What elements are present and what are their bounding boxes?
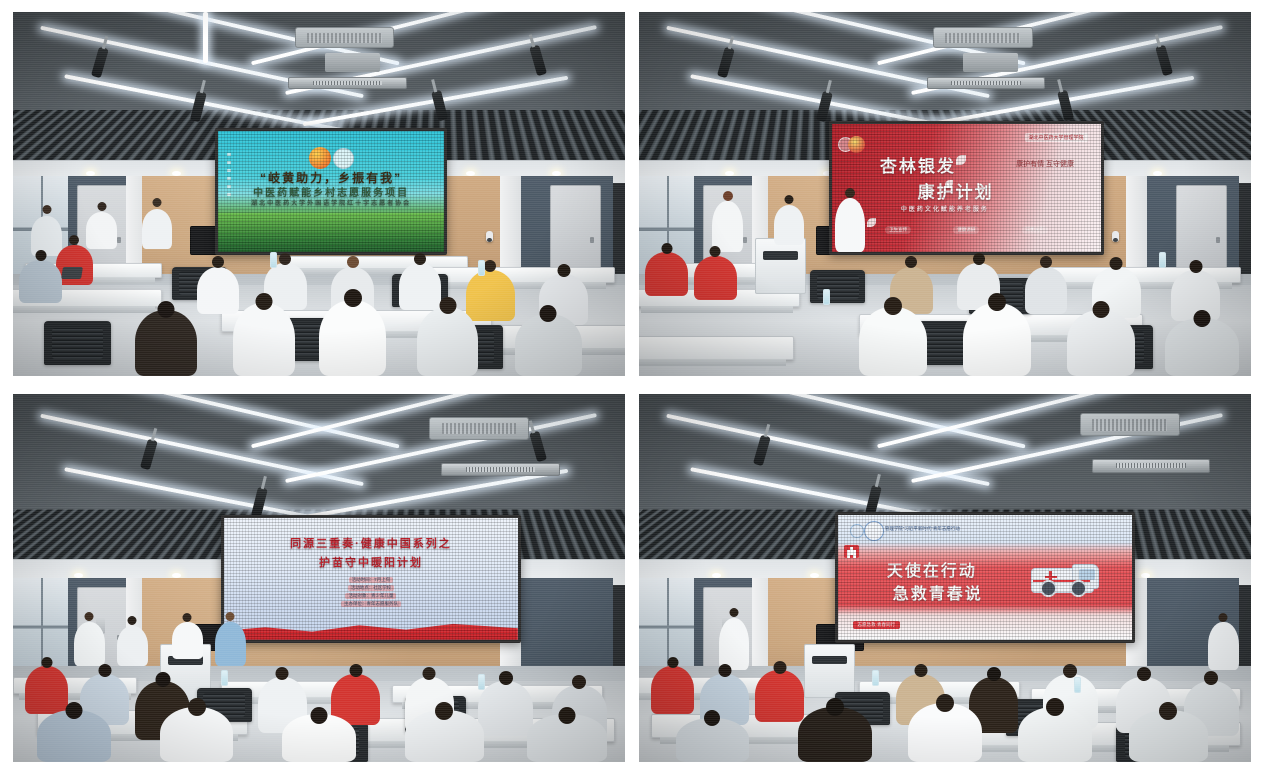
sun-logo-icon	[309, 147, 331, 169]
podium	[804, 644, 855, 698]
hanging-speaker-icon	[717, 47, 735, 79]
audience-member	[197, 267, 240, 314]
water-bottle	[872, 670, 879, 686]
presenter	[1208, 622, 1239, 670]
chair	[810, 270, 865, 303]
audience-member	[478, 681, 533, 736]
screen-footer: 湖北中医药大学外国语学院红十字志愿者协会	[218, 198, 444, 207]
water-bottle	[823, 289, 830, 305]
screen-title-line2: 护苗守中暖阳计划	[224, 554, 518, 570]
air-conditioner-icon	[1080, 413, 1180, 436]
water-bottle	[478, 674, 485, 690]
screen-title: “岐黄助力，乡振有我”	[218, 169, 444, 186]
audience-member	[160, 707, 233, 762]
screen-subtitle: 中医药文化赋能养老服务	[829, 204, 1080, 213]
hanging-speaker-icon	[530, 431, 548, 463]
screen-badge: 三伏入户	[1022, 226, 1048, 234]
audience-member	[1018, 707, 1091, 762]
presenter	[117, 626, 148, 666]
audience-member-vest	[645, 252, 688, 296]
water-bottle	[478, 260, 485, 276]
presenter	[712, 201, 743, 252]
projector-mount-icon	[927, 77, 1045, 89]
air-conditioner-icon	[325, 53, 380, 72]
screen-badge: 健康调研	[953, 226, 979, 234]
audience-member	[1129, 710, 1209, 762]
audience-member	[399, 263, 442, 310]
led-strip	[203, 12, 208, 63]
air-conditioner-icon	[295, 27, 395, 48]
audience-member	[37, 710, 110, 762]
screen-badges: 卫生宣传 健康调研 三伏入户	[864, 226, 1069, 234]
chair	[44, 321, 111, 365]
audience-member	[135, 310, 196, 376]
projector-mount-icon	[1092, 459, 1210, 472]
air-conditioner-icon	[963, 53, 1018, 72]
water-bottle	[221, 670, 228, 686]
presenter	[31, 216, 62, 256]
first-aid-kit-icon	[844, 545, 859, 558]
screen-tagline: 志愿急救·青春同行	[853, 621, 901, 629]
hanging-speaker-icon	[753, 435, 771, 467]
audience-member	[515, 314, 582, 376]
projector-mount-icon	[288, 77, 406, 89]
screen-info-line: 活动地点：社区学校	[348, 585, 395, 591]
presenter	[835, 198, 866, 253]
audience-member	[963, 303, 1030, 376]
screen-title-line2: 康护计划	[829, 178, 1091, 203]
hanging-speaker-icon	[91, 47, 109, 79]
audience-member	[1025, 267, 1068, 314]
photo-grid: “岐黄助力，乡振有我” 中医药赋能乡村志愿服务项目 湖北中医药大学外国语学院红十…	[13, 12, 1251, 758]
laptop	[61, 267, 83, 279]
audience-member-vest	[25, 666, 68, 714]
audience-member	[417, 307, 478, 376]
ceiling-camera-icon	[486, 231, 493, 242]
audience-member-vest	[651, 666, 694, 714]
audience-member	[1165, 318, 1238, 376]
screen-info-list: 活动时间：7月上旬 活动地点：社区学校 活动对象：青少年儿童 主办单位：青年志愿…	[303, 577, 438, 607]
screen-title-line1: 同源三重奏·健康中国系列之	[224, 535, 518, 551]
presenter-podium	[172, 622, 203, 659]
air-conditioner-icon	[933, 27, 1033, 48]
audience-member	[527, 714, 607, 762]
photo-panel-3: 同源三重奏·健康中国系列之 护苗守中暖阳计划 活动时间：7月上旬 活动地点：社区…	[13, 394, 625, 762]
audience-member	[405, 710, 485, 762]
audience-member	[319, 300, 386, 376]
photo-panel-4: 管理学院“习近平新时代”青年志愿行动 天使在行动 急救青春说 志愿急救·青春同行	[639, 394, 1251, 762]
photo-panel-1: “岐黄助力，乡振有我” 中医药赋能乡村志愿服务项目 湖北中医药大学外国语学院红十…	[13, 12, 625, 376]
audience-member-vest	[694, 256, 737, 300]
hanging-speaker-icon	[530, 45, 548, 77]
led-screen-4: 管理学院“习近平新时代”青年志愿行动 天使在行动 急救青春说 志愿急救·青春同行	[835, 512, 1135, 643]
screen-info-line: 主办单位：青年志愿服务队	[341, 601, 401, 607]
university-logo: 湖北中医药大学管理学院	[1025, 133, 1088, 142]
presenter	[215, 622, 246, 666]
audience-member	[798, 707, 871, 762]
led-screen-2: 湖北中医药大学管理学院 杏林银发 康护计划 中医药文化赋能养老服务 康护有情 互…	[829, 121, 1104, 254]
screen-header: 管理学院“习近平新时代”青年志愿行动	[885, 526, 960, 532]
presenter	[142, 209, 173, 249]
audience-member	[676, 718, 749, 762]
screen-info-line: 活动对象：青少年儿童	[345, 593, 396, 599]
red-mountain-graphic	[224, 616, 518, 640]
screen-badge: 卫生宣传	[885, 226, 911, 234]
audience-member	[908, 703, 981, 762]
water-bottle	[270, 252, 277, 268]
ribbon-badge-icon	[850, 524, 864, 538]
hanging-speaker-icon	[140, 439, 158, 471]
audience-member	[859, 307, 926, 376]
circular-badge-icon	[864, 521, 884, 541]
podium	[755, 238, 806, 295]
landscape-graphic	[218, 213, 444, 251]
calligraphy-text: 康护有情 互守健康	[1016, 160, 1074, 171]
presenter	[86, 212, 117, 248]
led-screen-3: 同源三重奏·健康中国系列之 护苗守中暖阳计划 活动时间：7月上旬 活动地点：社区…	[221, 515, 521, 642]
photo-panel-2: 湖北中医药大学管理学院 杏林银发 康护计划 中医药文化赋能养老服务 康护有情 互…	[639, 12, 1251, 376]
air-conditioner-icon	[429, 417, 529, 440]
hanging-speaker-icon	[1156, 45, 1174, 77]
seal-icon	[848, 136, 865, 153]
circular-badge-icon	[333, 148, 354, 169]
audience-member	[233, 303, 294, 376]
water-bottle	[1159, 252, 1166, 268]
presenter	[719, 618, 750, 670]
audience-member	[282, 714, 355, 762]
table	[429, 267, 615, 284]
led-screen-1: “岐黄助力，乡振有我” 中医药赋能乡村志愿服务项目 湖北中医药大学外国语学院红十…	[215, 128, 447, 254]
audience-member-vest	[466, 270, 515, 321]
presenter	[774, 205, 805, 245]
ambulance-illustration	[1025, 560, 1099, 598]
ceiling-camera-icon	[1112, 231, 1119, 242]
projector-mount-icon	[441, 463, 559, 476]
table	[639, 336, 794, 360]
audience-member-vest	[755, 670, 804, 722]
screen-info-line: 活动时间：7月上旬	[349, 577, 394, 583]
presenter	[74, 622, 105, 666]
audience-member	[1067, 310, 1134, 376]
audience-member	[19, 260, 62, 304]
water-bottle	[1074, 677, 1081, 693]
